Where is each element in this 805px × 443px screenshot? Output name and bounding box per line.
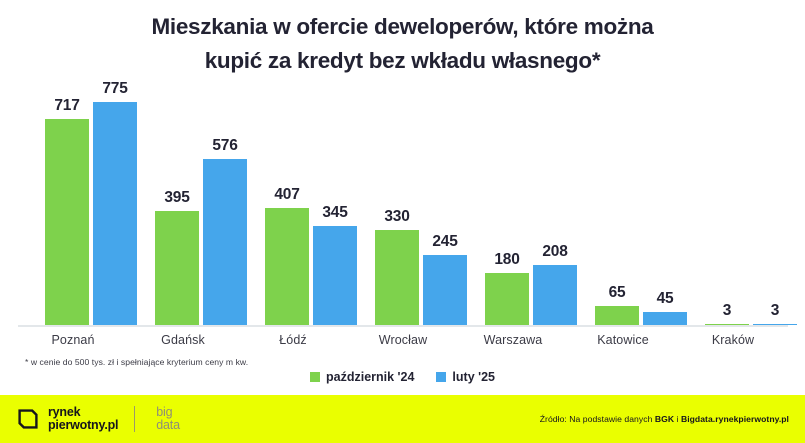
legend-item[interactable]: październik '24 bbox=[310, 370, 414, 384]
bar-group: 6545 bbox=[586, 95, 696, 325]
category-label: Warszawa bbox=[458, 333, 568, 347]
bar-series-0[interactable] bbox=[265, 208, 309, 325]
chart-plot-area: 717775395576407345330245180208654533 bbox=[18, 95, 788, 325]
bar-group: 180208 bbox=[476, 95, 586, 325]
chart-legend: październik '24luty '25 bbox=[0, 370, 805, 384]
brand-line-2: pierwotny.pl bbox=[48, 418, 118, 432]
brand-wordmark: rynek pierwotny.pl bbox=[48, 406, 118, 432]
bar-column[interactable]: 717 bbox=[45, 95, 89, 325]
bar-group: 330245 bbox=[366, 95, 476, 325]
bar-column[interactable]: 395 bbox=[155, 95, 199, 325]
brand-divider bbox=[134, 406, 135, 432]
bar-column[interactable]: 576 bbox=[203, 95, 247, 325]
bar-group-bars: 717775 bbox=[36, 95, 146, 325]
rynek-pierwotny-mark-icon bbox=[18, 409, 38, 429]
bar-column[interactable]: 775 bbox=[93, 95, 137, 325]
bar-group-bars: 407345 bbox=[256, 95, 366, 325]
bar-value-label: 717 bbox=[32, 97, 102, 115]
title-line-1: Mieszkania w ofercie deweloperów, które … bbox=[0, 10, 805, 44]
bar-series-0[interactable] bbox=[595, 306, 639, 325]
chart-page: Mieszkania w ofercie deweloperów, które … bbox=[0, 0, 805, 443]
page-title: Mieszkania w ofercie deweloperów, które … bbox=[0, 10, 805, 78]
legend-swatch-icon bbox=[310, 372, 320, 382]
bar-series-1[interactable] bbox=[643, 312, 687, 325]
bar-column[interactable]: 3 bbox=[705, 95, 749, 325]
legend-label: październik '24 bbox=[326, 370, 414, 384]
bar-column[interactable]: 345 bbox=[313, 95, 357, 325]
bar-value-label: 395 bbox=[142, 189, 212, 207]
bigdata-wordmark: big data bbox=[156, 406, 180, 432]
category-label: Łódź bbox=[238, 333, 348, 347]
bigdata-line-1: big bbox=[156, 405, 172, 419]
bar-group-bars: 6545 bbox=[586, 95, 696, 325]
brand-tld: .pl bbox=[104, 418, 118, 432]
bar-group: 395576 bbox=[146, 95, 256, 325]
bar-value-label: 407 bbox=[252, 186, 322, 204]
legend-item[interactable]: luty '25 bbox=[436, 370, 495, 384]
bar-value-label: 775 bbox=[80, 80, 150, 98]
bar-value-label: 576 bbox=[190, 137, 260, 155]
bar-value-label: 245 bbox=[410, 233, 480, 251]
bigdata-line-2: data bbox=[156, 418, 180, 432]
bar-column[interactable]: 3 bbox=[753, 95, 797, 325]
bar-series-1[interactable] bbox=[93, 102, 137, 325]
source-prefix: Źródło: Na podstawie danych bbox=[540, 414, 655, 424]
bar-series-1[interactable] bbox=[533, 265, 577, 325]
bar-column[interactable]: 45 bbox=[643, 95, 687, 325]
bar-series-0[interactable] bbox=[485, 273, 529, 325]
bar-value-label: 330 bbox=[362, 208, 432, 226]
bar-group: 33 bbox=[696, 95, 805, 325]
title-line-2: kupić za kredyt bez wkładu własnego* bbox=[0, 44, 805, 78]
source-bigdata: Bigdata.rynekpierwotny.pl bbox=[681, 414, 789, 424]
category-label: Kraków bbox=[678, 333, 788, 347]
bar-series-1[interactable] bbox=[423, 255, 467, 325]
bar-value-label: 208 bbox=[520, 243, 590, 261]
bar-group-bars: 395576 bbox=[146, 95, 256, 325]
category-label: Poznań bbox=[18, 333, 128, 347]
category-label: Katowice bbox=[568, 333, 678, 347]
source-mid: i bbox=[674, 414, 681, 424]
source-bgk: BGK bbox=[655, 414, 674, 424]
brand-logo: rynek pierwotny.pl big data bbox=[18, 406, 180, 432]
bar-group-bars: 180208 bbox=[476, 95, 586, 325]
brand-line-1: rynek bbox=[48, 405, 80, 419]
source-note: Źródło: Na podstawie danych BGK i Bigdat… bbox=[540, 414, 789, 424]
bar-column[interactable]: 180 bbox=[485, 95, 529, 325]
bar-series-0[interactable] bbox=[155, 211, 199, 325]
chart-baseline bbox=[18, 325, 788, 327]
bar-column[interactable]: 208 bbox=[533, 95, 577, 325]
category-label: Gdańsk bbox=[128, 333, 238, 347]
bar-series-1[interactable] bbox=[313, 226, 357, 325]
bar-value-label: 345 bbox=[300, 204, 370, 222]
bar-group: 717775 bbox=[36, 95, 146, 325]
legend-label: luty '25 bbox=[452, 370, 495, 384]
bar-series-1[interactable] bbox=[203, 159, 247, 325]
bar-column[interactable]: 245 bbox=[423, 95, 467, 325]
bar-value-label: 3 bbox=[740, 302, 805, 320]
chart-footnote: * w cenie do 500 tys. zł i spełniające k… bbox=[25, 357, 248, 367]
bar-chart: 717775395576407345330245180208654533 bbox=[0, 95, 805, 330]
bar-column[interactable]: 330 bbox=[375, 95, 419, 325]
bar-group-bars: 33 bbox=[696, 95, 805, 325]
brand-name: pierwotny bbox=[48, 418, 104, 432]
legend-swatch-icon bbox=[436, 372, 446, 382]
bar-series-0[interactable] bbox=[45, 119, 89, 325]
category-label: Wrocław bbox=[348, 333, 458, 347]
footer-bar: rynek pierwotny.pl big data Źródło: Na p… bbox=[0, 395, 805, 443]
bar-value-label: 45 bbox=[630, 290, 700, 308]
bar-group: 407345 bbox=[256, 95, 366, 325]
bar-group-bars: 330245 bbox=[366, 95, 476, 325]
